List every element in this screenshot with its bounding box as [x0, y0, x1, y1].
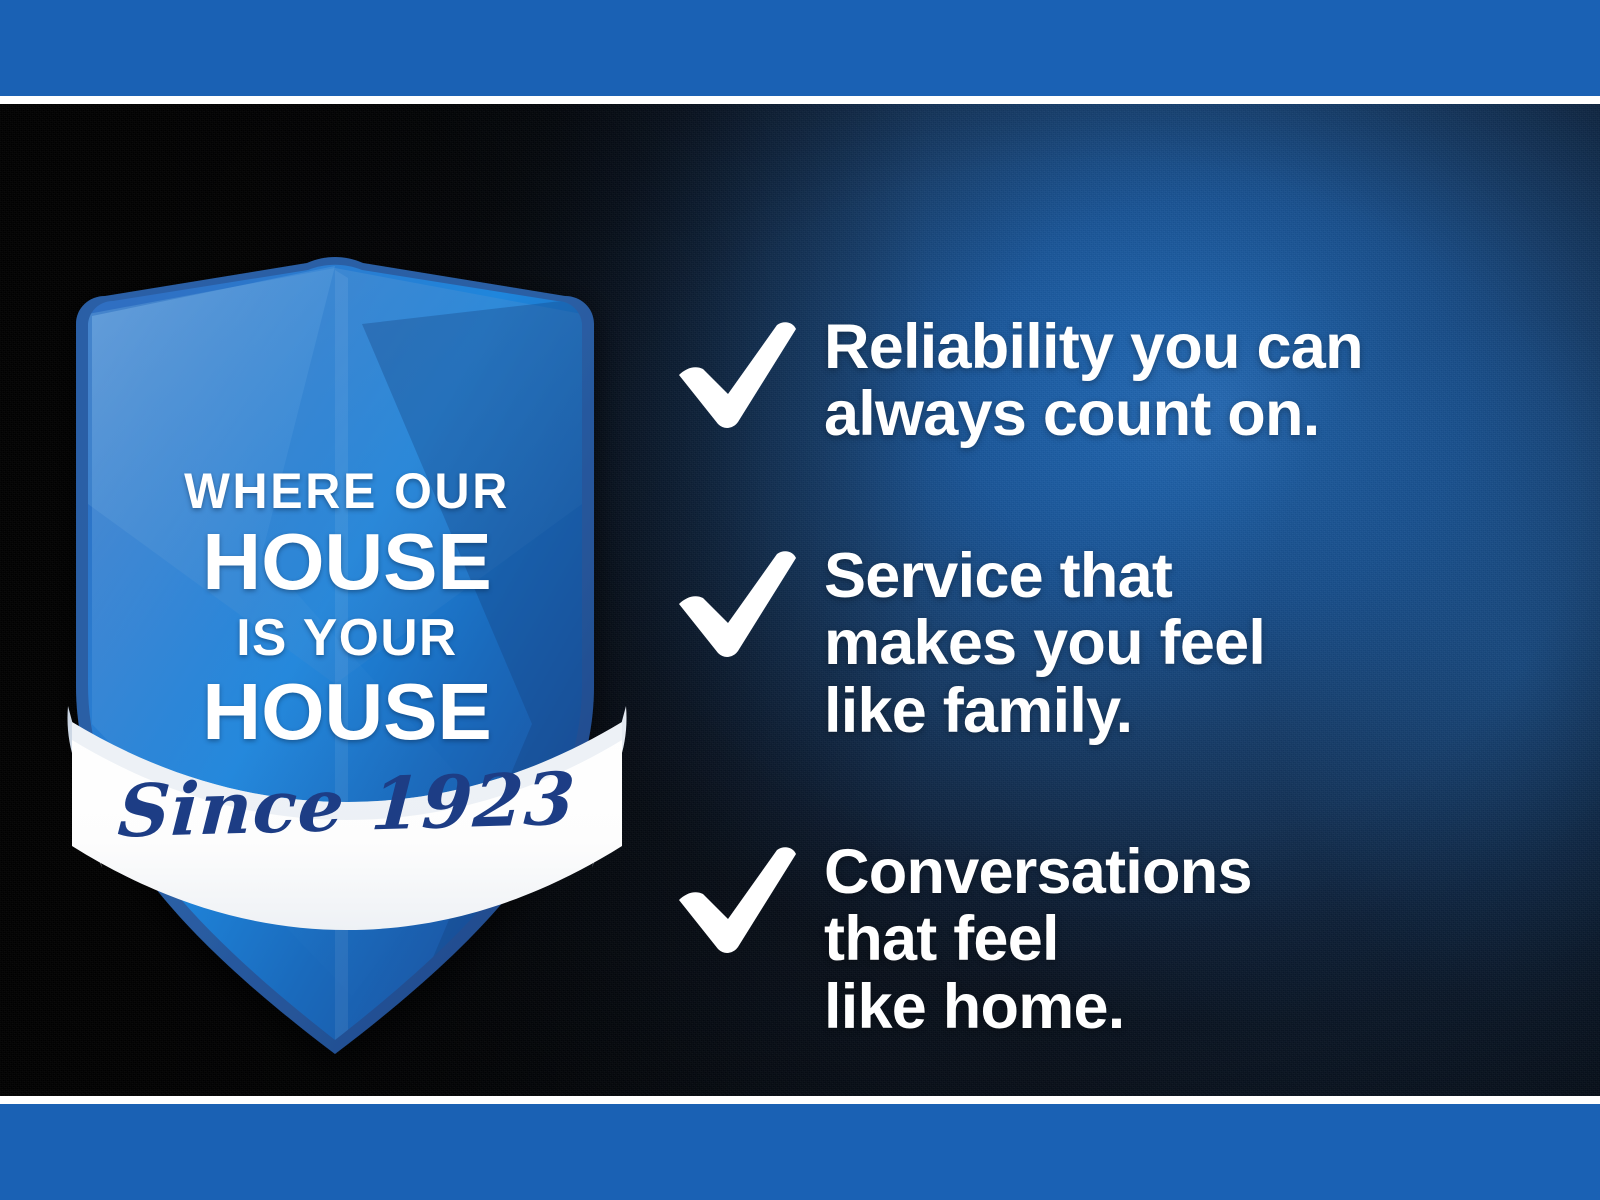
shield-tagline-line-1: WHERE OUR — [71, 466, 624, 516]
list-item-line: Conversations — [824, 839, 1532, 906]
ribbon-since-text: Since 1923 — [60, 761, 634, 849]
benefits-list: Reliability you can always count on. Ser… — [672, 310, 1532, 1041]
list-item-text: Service that makes you feel like family. — [824, 539, 1532, 745]
shield-badge-logo: WHERE OUR HOUSE IS YOUR HOUSE Since 1923 — [62, 254, 632, 954]
list-item: Service that makes you feel like family. — [672, 539, 1532, 745]
list-item: Conversations that feel like home. — [672, 835, 1532, 1041]
shield-tagline-line-4: HOUSE — [56, 672, 637, 752]
content-canvas: WHERE OUR HOUSE IS YOUR HOUSE Since 1923… — [0, 104, 1600, 1096]
list-item-line: Reliability you can — [824, 314, 1532, 381]
list-item-text: Conversations that feel like home. — [824, 835, 1532, 1041]
list-item-line: Service that — [824, 543, 1532, 610]
list-item-line: that feel — [824, 906, 1532, 973]
list-item: Reliability you can always count on. — [672, 310, 1532, 449]
list-item-line: always count on. — [824, 381, 1532, 448]
list-item-line: like family. — [824, 678, 1532, 745]
checkmark-icon — [672, 318, 798, 430]
checkmark-icon — [672, 547, 798, 659]
list-item-line: makes you feel — [824, 610, 1532, 677]
checkmark-icon — [672, 843, 798, 955]
shield-tagline-line-2: HOUSE — [56, 522, 637, 602]
top-brand-bar — [0, 0, 1600, 96]
list-item-text: Reliability you can always count on. — [824, 310, 1532, 449]
shield-tagline-line-3: IS YOUR — [65, 612, 629, 664]
promo-graphic: WHERE OUR HOUSE IS YOUR HOUSE Since 1923… — [0, 0, 1600, 1200]
list-item-line: like home. — [824, 974, 1532, 1041]
bottom-brand-bar — [0, 1104, 1600, 1200]
